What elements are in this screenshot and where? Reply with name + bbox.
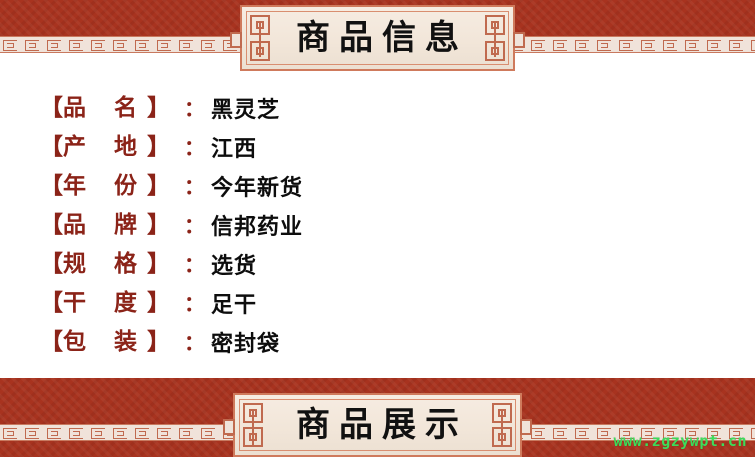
info-row: 【品 名】 ： 黑灵芝 xyxy=(0,88,755,127)
banner-tab-right xyxy=(513,32,525,48)
info-colon: ： xyxy=(184,288,205,318)
info-colon: ： xyxy=(184,132,205,162)
info-value: 足干 xyxy=(211,287,257,319)
info-value: 今年新货 xyxy=(211,170,303,202)
bracket-open: 【 xyxy=(40,250,63,277)
info-row: 【规 格】 ： 选货 xyxy=(0,244,755,283)
bracket-close: 】 xyxy=(147,172,170,199)
info-value: 选货 xyxy=(211,248,257,280)
info-label-text: 品 名 xyxy=(63,94,147,121)
bracket-close: 】 xyxy=(147,289,170,316)
bracket-close: 】 xyxy=(147,133,170,160)
info-row: 【干 度】 ： 足干 xyxy=(0,283,755,322)
bracket-open: 【 xyxy=(40,328,63,355)
bracket-open: 【 xyxy=(40,172,63,199)
header-banner: 商品信息 xyxy=(240,5,515,71)
info-label-text: 年 份 xyxy=(63,172,147,199)
product-info-list: 【品 名】 ： 黑灵芝 【产 地】 ： 江西 【年 份】 ： 今年新货 【品 牌… xyxy=(0,88,755,361)
product-info-graphic: 商品信息 【品 名】 ： 黑灵芝 【产 地】 ： 江西 【年 份】 ： 今年新货… xyxy=(0,0,755,457)
banner-tab-left xyxy=(223,419,235,435)
bracket-open: 【 xyxy=(40,94,63,121)
info-colon: ： xyxy=(184,210,205,240)
footer-banner-title: 商品展示 xyxy=(235,408,520,442)
bracket-close: 】 xyxy=(147,94,170,121)
bracket-open: 【 xyxy=(40,211,63,238)
info-colon: ： xyxy=(184,93,205,123)
info-label: 【品 牌】 xyxy=(40,213,188,236)
info-colon: ： xyxy=(184,327,205,357)
banner-tab-left xyxy=(230,32,242,48)
info-label-text: 品 牌 xyxy=(63,211,147,238)
banner-tab-right xyxy=(520,419,532,435)
info-label-text: 干 度 xyxy=(63,289,147,316)
info-value: 信邦药业 xyxy=(211,209,303,241)
site-watermark: www.zgzywpt.cn xyxy=(614,432,747,450)
info-label: 【包 装】 xyxy=(40,330,188,353)
bracket-open: 【 xyxy=(40,289,63,316)
bracket-close: 】 xyxy=(147,328,170,355)
info-colon: ： xyxy=(184,171,205,201)
info-row: 【品 牌】 ： 信邦药业 xyxy=(0,205,755,244)
bracket-close: 】 xyxy=(147,211,170,238)
info-value: 密封袋 xyxy=(211,326,280,358)
info-colon: ： xyxy=(184,249,205,279)
info-row: 【产 地】 ： 江西 xyxy=(0,127,755,166)
info-label-text: 规 格 xyxy=(63,250,147,277)
bracket-open: 【 xyxy=(40,133,63,160)
info-label: 【年 份】 xyxy=(40,174,188,197)
info-label-text: 产 地 xyxy=(63,133,147,160)
info-row: 【包 装】 ： 密封袋 xyxy=(0,322,755,361)
info-label: 【品 名】 xyxy=(40,96,188,119)
header-banner-title: 商品信息 xyxy=(242,21,513,55)
info-label-text: 包 装 xyxy=(63,328,147,355)
footer-banner: 商品展示 xyxy=(233,393,522,457)
info-value: 黑灵芝 xyxy=(211,92,280,124)
bracket-close: 】 xyxy=(147,250,170,277)
info-row: 【年 份】 ： 今年新货 xyxy=(0,166,755,205)
info-label: 【产 地】 xyxy=(40,135,188,158)
info-label: 【规 格】 xyxy=(40,252,188,275)
info-value: 江西 xyxy=(211,131,257,163)
info-label: 【干 度】 xyxy=(40,291,188,314)
